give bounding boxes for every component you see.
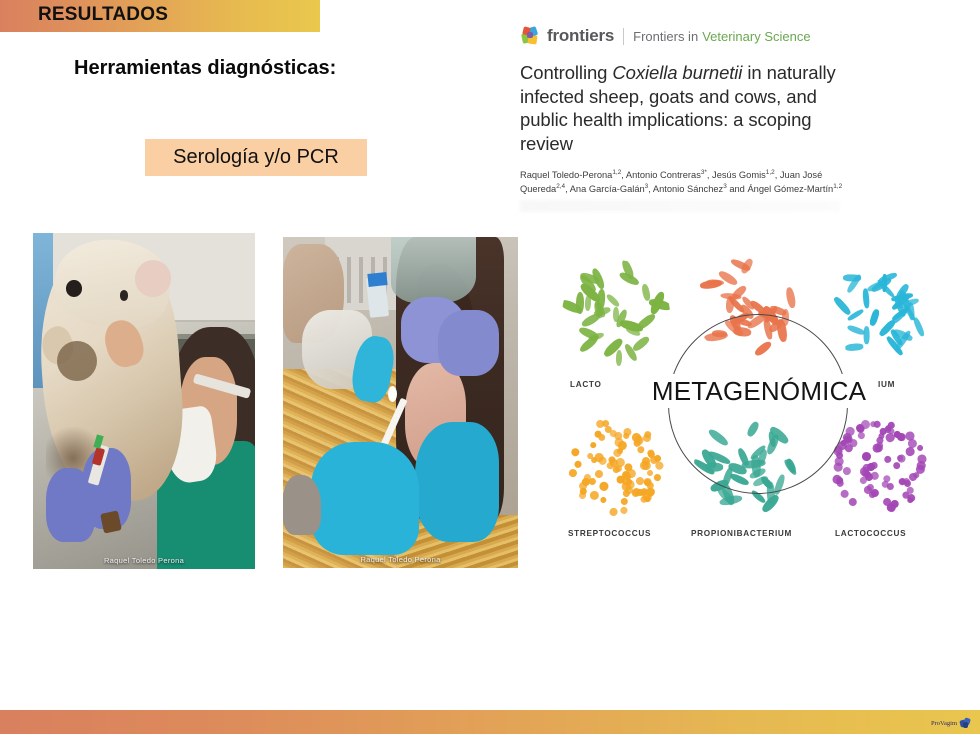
journal-series-prefix: Frontiers in (633, 29, 698, 44)
author-2: , Antonio Contreras (621, 170, 701, 180)
journal-article-block: frontiers Frontiers in Veterinary Scienc… (520, 24, 856, 212)
blob-label-lactococcus: LACTOCOCCUS (835, 529, 906, 538)
author-6: , Antonio Sánchez (648, 184, 723, 194)
authors-comma: , (775, 170, 778, 180)
author-7: Ángel Gómez-Martín (747, 184, 833, 194)
journal-series-name: Veterinary Science (702, 29, 810, 44)
metagenomics-center-text: METAGENÓMICA (652, 376, 866, 407)
bacteria-blob-streptococcus (562, 412, 670, 520)
footer-brand-text: ProVagim (931, 720, 957, 727)
section-heading: Herramientas diagnósticas: (74, 57, 336, 80)
journal-title-part1: Controlling (520, 62, 612, 83)
journal-faded-text (520, 200, 840, 212)
journal-brand-row: frontiers Frontiers in Veterinary Scienc… (520, 24, 856, 48)
results-banner: RESULTADOS (0, 0, 320, 32)
frontiers-wordmark: frontiers (547, 26, 614, 46)
bacteria-blob-bifidobacterium (826, 260, 934, 368)
author-5: , Ana García-Galán (565, 184, 645, 194)
brand-divider (623, 28, 624, 45)
blob-label-propionibacterium: PROPIONIBACTERIUM (691, 529, 792, 538)
diagnostic-tool-chip: Serología y/o PCR (145, 139, 367, 176)
banner-title: RESULTADOS (38, 4, 168, 26)
blob-label-streptococcus: STREPTOCOCCUS (568, 529, 651, 538)
author-4-affiliation: 2,4 (556, 183, 565, 190)
blob-label-lactobacillus: LACTO (570, 380, 602, 389)
footer-bar: ProVagim (0, 710, 980, 734)
sheep-blood-sampling-photo: Raquel Toledo Perona (33, 233, 255, 569)
metagenomics-center-label: METAGENÓMICA (644, 374, 874, 408)
frontiers-pinwheel-icon (520, 26, 542, 46)
author-1: Raquel Toledo-Perona (520, 170, 612, 180)
author-3-affiliation: 1,2 (766, 169, 775, 176)
tool-chip-label: Serología y/o PCR (173, 146, 339, 169)
photo-b-caption: Raquel Toledo Perona (283, 555, 518, 564)
author-3: , Jesús Gomis (707, 170, 766, 180)
journal-title: Controlling Coxiella burnetii in natural… (520, 61, 856, 156)
metagenomics-infographic: LACTO IUM STREPTOCOCCUS PROPIONIBACTERIU… (548, 252, 948, 552)
photo-b-scene (283, 237, 518, 568)
provagim-logo-icon (959, 717, 972, 730)
photo-a-caption: Raquel Toledo Perona (33, 556, 255, 565)
photo-a-scene (33, 233, 255, 569)
blob-label-bifidobacterium: IUM (878, 380, 895, 389)
journal-title-species: Coxiella burnetii (612, 62, 742, 83)
author-1-affiliation: 1,2 (612, 169, 621, 176)
authors-and: and (727, 184, 745, 194)
bacteria-blob-lactobacillus (562, 260, 670, 368)
footer-brand: ProVagim (931, 717, 972, 730)
journal-authors: Raquel Toledo-Perona1,2, Antonio Contrer… (520, 168, 856, 196)
slide: RESULTADOS Herramientas diagnósticas: Se… (0, 0, 980, 734)
author-7-affiliation: 1,2 (833, 183, 842, 190)
swab-sampling-photo: Raquel Toledo Perona (283, 237, 518, 568)
